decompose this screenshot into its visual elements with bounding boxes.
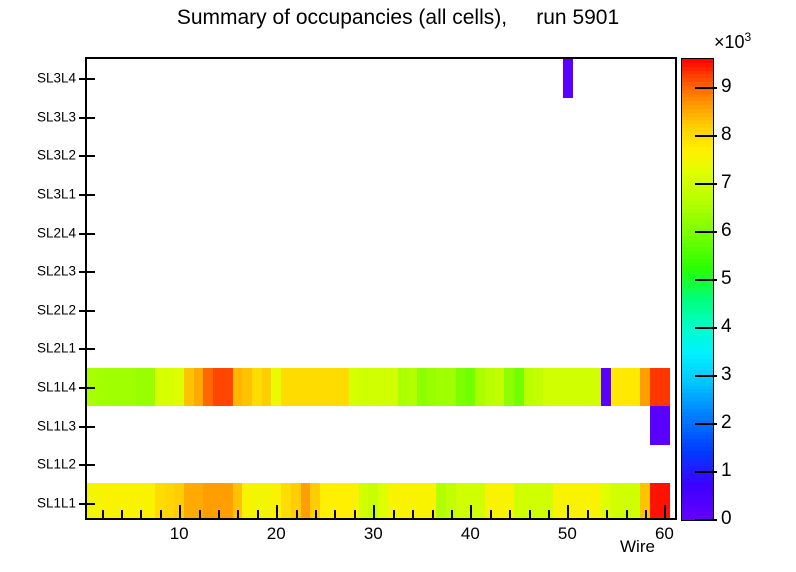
plot-frame: SL1L1SL1L2SL1L3SL1L4SL2L1SL2L2SL2L3SL2L4…: [85, 57, 677, 520]
y-axis-tick-inner: [87, 387, 95, 389]
x-axis-minor-tick: [199, 510, 201, 518]
y-axis-tick: [79, 117, 87, 119]
x-axis-minor-tick: [315, 510, 317, 518]
y-axis-label-sl2l2: SL2L2: [37, 302, 76, 317]
x-axis-minor-tick: [296, 510, 298, 518]
y-axis-tick-inner: [87, 117, 95, 119]
y-axis-tick: [79, 426, 87, 428]
y-axis-label-sl2l1: SL2L1: [37, 341, 76, 356]
y-axis-tick: [79, 233, 87, 235]
x-axis-minor-tick: [160, 510, 162, 518]
x-axis-minor-tick: [140, 510, 142, 518]
color-scale-tick-label: 7: [721, 172, 732, 194]
color-scale-tick: [695, 519, 717, 521]
y-axis-tick-inner: [87, 348, 95, 350]
x-axis-minor-tick: [451, 510, 453, 518]
y-axis-tick: [79, 387, 87, 389]
y-axis-tick: [79, 194, 87, 196]
heatmap-cell: [660, 406, 670, 445]
y-axis-tick-inner: [87, 271, 95, 273]
color-scale-tick-label: 0: [721, 508, 732, 530]
y-axis-tick-inner: [87, 503, 95, 505]
x-axis-tick-label: 10: [170, 524, 189, 544]
y-axis-label-sl3l4: SL3L4: [37, 71, 76, 86]
heatmap-cells: [87, 59, 675, 518]
x-axis-minor-tick: [645, 510, 647, 518]
color-scale-tick-label: 1: [721, 460, 732, 482]
y-axis-tick: [79, 271, 87, 273]
y-axis-tick: [79, 78, 87, 80]
x-axis-minor-tick: [334, 510, 336, 518]
y-axis-tick-inner: [87, 464, 95, 466]
x-axis-minor-tick: [587, 510, 589, 518]
x-axis-minor-tick: [393, 510, 395, 518]
color-scale-tick-label: 9: [721, 76, 732, 98]
x-axis-minor-tick: [237, 510, 239, 518]
y-axis-tick-inner: [87, 310, 95, 312]
x-axis-minor-tick: [529, 510, 531, 518]
color-scale-exponent: ×103: [714, 30, 751, 53]
color-scale-tick-label: 8: [721, 124, 732, 146]
root-canvas: Summary of occupancies (all cells), run …: [0, 0, 796, 572]
x-axis-minor-tick: [121, 510, 123, 518]
x-axis-minor-tick: [606, 510, 608, 518]
color-scale-tick: [695, 135, 717, 137]
color-scale-tick-label: 4: [721, 316, 732, 338]
x-axis-tick-label: 40: [461, 524, 480, 544]
x-axis-minor-tick: [354, 510, 356, 518]
page-title: Summary of occupancies (all cells), run …: [0, 6, 796, 30]
x-axis-minor-tick: [218, 510, 220, 518]
color-scale-tick: [695, 87, 717, 89]
x-axis-major-tick: [567, 505, 569, 518]
color-scale-tick: [695, 231, 717, 233]
y-axis-tick-inner: [87, 78, 95, 80]
color-scale-ticks: 0123456789: [681, 58, 781, 519]
color-scale-tick-label: 5: [721, 268, 732, 290]
y-axis-tick: [79, 348, 87, 350]
y-axis-label-sl1l3: SL1L3: [37, 418, 76, 433]
color-scale-tick-label: 3: [721, 364, 732, 386]
x-axis-minor-tick: [548, 510, 550, 518]
y-axis-label-sl3l3: SL3L3: [37, 109, 76, 124]
color-scale-tick-label: 2: [721, 412, 732, 434]
x-axis-major-tick: [470, 505, 472, 518]
heatmap-cell: [660, 368, 670, 407]
color-scale-tick: [695, 471, 717, 473]
y-axis-tick: [79, 464, 87, 466]
x-axis-tick-label: 30: [364, 524, 383, 544]
y-axis-tick: [79, 503, 87, 505]
x-axis-minor-tick: [626, 510, 628, 518]
x-axis-tick-label: 20: [267, 524, 286, 544]
y-axis-label-sl2l4: SL2L4: [37, 225, 76, 240]
y-axis-tick-inner: [87, 233, 95, 235]
color-scale-tick: [695, 327, 717, 329]
x-axis-major-tick: [373, 505, 375, 518]
x-axis-tick-label: 50: [558, 524, 577, 544]
x-axis-minor-tick: [490, 510, 492, 518]
y-axis-label-sl3l1: SL3L1: [37, 187, 76, 202]
x-axis-minor-tick: [509, 510, 511, 518]
color-scale-exponent-power: 3: [745, 30, 752, 44]
x-axis-tick-label: 60: [655, 524, 674, 544]
y-axis-tick-inner: [87, 426, 95, 428]
y-axis-label-sl3l2: SL3L2: [37, 148, 76, 163]
y-axis-tick-inner: [87, 155, 95, 157]
y-axis-tick: [79, 310, 87, 312]
y-axis-label-sl1l4: SL1L4: [37, 379, 76, 394]
x-axis-minor-tick: [412, 510, 414, 518]
x-axis-title: Wire: [620, 537, 655, 557]
x-axis-major-tick: [664, 505, 666, 518]
heatmap-cell: [563, 59, 573, 98]
y-axis-tick-inner: [87, 194, 95, 196]
x-axis-major-tick: [179, 505, 181, 518]
y-axis-tick: [79, 155, 87, 157]
y-axis-label-sl1l2: SL1L2: [37, 457, 76, 472]
color-scale-tick: [695, 423, 717, 425]
color-scale-tick: [695, 375, 717, 377]
color-scale-tick-label: 6: [721, 220, 732, 242]
y-axis-label-sl1l1: SL1L1: [37, 495, 76, 510]
x-axis-minor-tick: [102, 510, 104, 518]
color-scale-tick: [695, 279, 717, 281]
x-axis-major-tick: [276, 505, 278, 518]
x-axis-minor-tick: [432, 510, 434, 518]
y-axis-label-sl2l3: SL2L3: [37, 264, 76, 279]
color-scale-tick: [695, 183, 717, 185]
x-axis-minor-tick: [257, 510, 259, 518]
